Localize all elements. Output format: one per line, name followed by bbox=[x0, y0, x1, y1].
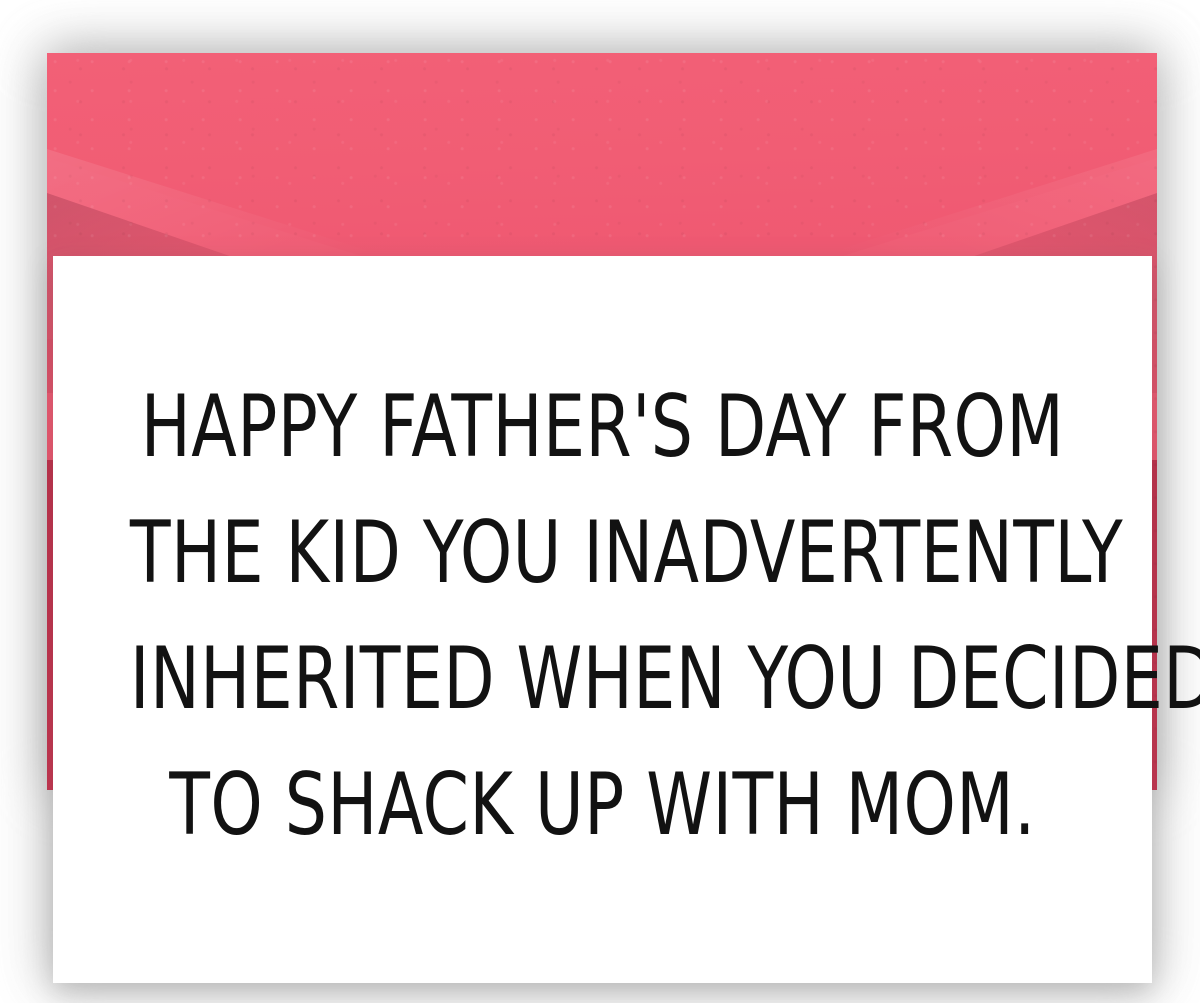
greeting-card-scene: HAPPY FATHER'S DAY FROM THE KID YOU INAD… bbox=[0, 0, 1200, 1003]
card-message-line-4: TO SHACK UP WITH MOM. bbox=[130, 742, 1075, 868]
card-message-line-2: THE KID YOU INADVERTENTLY bbox=[130, 490, 1075, 616]
card-message: HAPPY FATHER'S DAY FROM THE KID YOU INAD… bbox=[53, 364, 1152, 868]
card-message-line-1: HAPPY FATHER'S DAY FROM bbox=[130, 364, 1075, 490]
card-message-line-3: INHERITED WHEN YOU DECIDED bbox=[130, 616, 1075, 742]
greeting-card: HAPPY FATHER'S DAY FROM THE KID YOU INAD… bbox=[53, 256, 1152, 983]
